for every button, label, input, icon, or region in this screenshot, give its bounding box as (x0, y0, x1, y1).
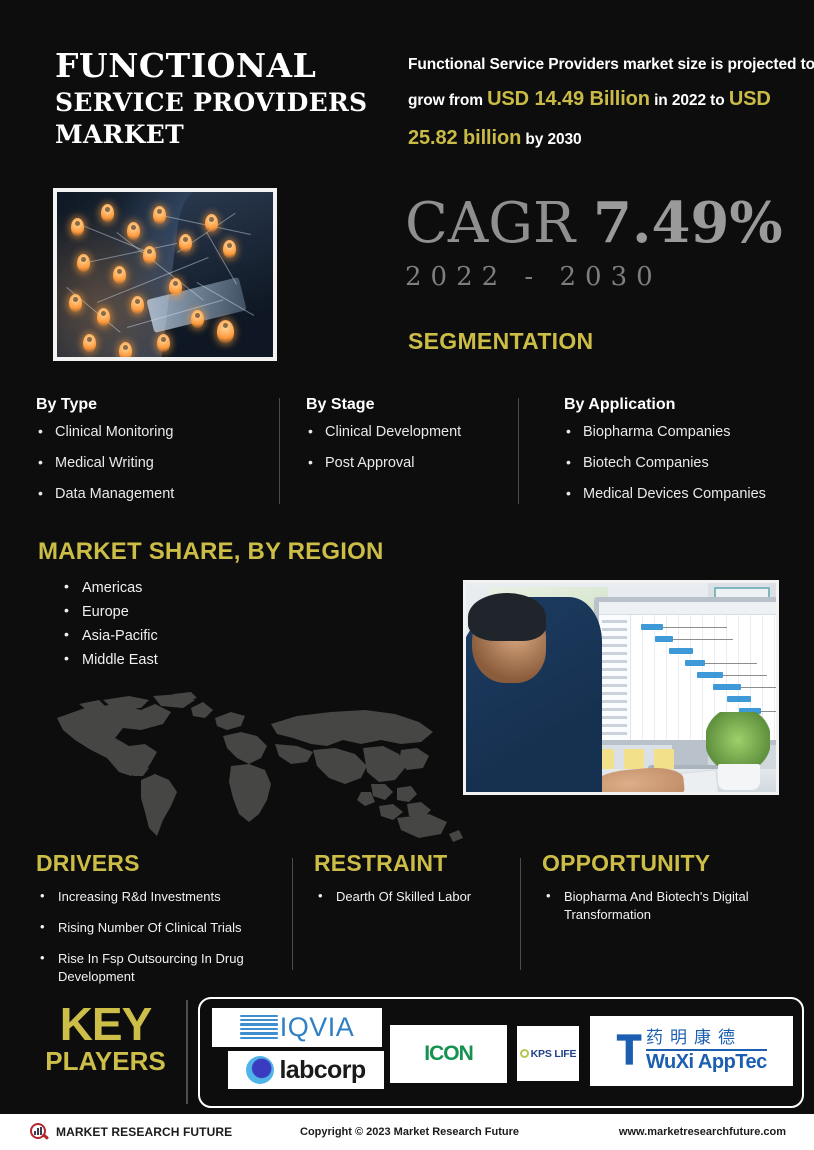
market-research-future-logo-icon (30, 1123, 49, 1142)
list-item: Biopharma Companies (564, 425, 814, 441)
segmentation-heading: SEGMENTATION (408, 328, 593, 355)
footer-brand-name: MARKET RESEARCH FUTURE (56, 1125, 232, 1139)
key-players-separator (186, 1000, 188, 1104)
segmentation-column-by-application: By Application Biopharma Companies Biote… (564, 396, 814, 518)
list-item: Asia-Pacific (60, 629, 158, 645)
title-line-3: MARKET (55, 119, 385, 152)
key-players-logo-box: IQVIA labcorp ICON KPS LIFE 𝐓 药明康德 WuXi … (198, 997, 804, 1108)
opportunity-heading: OPPORTUNITY (542, 850, 812, 877)
cagr-value: 7.49% (593, 190, 783, 256)
market-projection-text: Functional Service Providers market size… (408, 50, 814, 158)
restraint-heading: RESTRAINT (314, 850, 524, 877)
segmentation-heading-by-type: By Type (36, 396, 236, 414)
list-item: Clinical Monitoring (36, 425, 236, 441)
segmentation-column-by-stage: By Stage Clinical Development Post Appro… (306, 396, 536, 487)
key-players-label: KEY PLAYERS (33, 1002, 178, 1076)
list-item: Americas (60, 581, 158, 597)
logo-wuxi-apptec: 𝐓 药明康德 WuXi AppTec (590, 1016, 793, 1086)
logo-labcorp: labcorp (228, 1051, 384, 1089)
list-item: Medical Writing (36, 456, 236, 472)
segmentation-heading-by-application: By Application (564, 396, 814, 414)
page-title: FUNCTIONAL SERVICE PROVIDERS MARKET (55, 48, 385, 152)
list-item: Post Approval (306, 456, 536, 472)
key-players-line-2: PLAYERS (33, 1047, 178, 1076)
cagr-block: CAGR 7.49% 2022 - 2030 (405, 195, 783, 292)
list-item: Rise In Fsp Outsourcing In Drug Developm… (36, 950, 276, 986)
network-people-photo (53, 188, 277, 361)
cagr-line: CAGR 7.49% (405, 195, 783, 252)
iqvia-wordmark: IQVIA (280, 1012, 355, 1043)
cagr-label: CAGR (405, 191, 593, 256)
wuxi-p-mark-icon: 𝐓 (616, 1031, 642, 1071)
list-item: Rising Number Of Clinical Trials (36, 919, 276, 937)
footer-url[interactable]: www.marketresearchfuture.com (619, 1126, 786, 1138)
projection-part-3: by 2030 (521, 131, 581, 148)
dynamics-column-restraint: RESTRAINT Dearth Of Skilled Labor (314, 850, 524, 919)
list-item: Middle East (60, 653, 158, 669)
logo-icon-plc: ICON (390, 1025, 507, 1083)
footer-copyright: Copyright © 2023 Market Research Future (300, 1126, 519, 1138)
iqvia-bars-icon (240, 1015, 278, 1041)
world-map (45, 688, 475, 848)
list-item: Europe (60, 605, 158, 621)
footer-brand: MARKET RESEARCH FUTURE (30, 1123, 232, 1142)
logo-iqvia: IQVIA (212, 1008, 382, 1047)
list-item: Medical Devices Companies (564, 487, 814, 503)
kps-flower-icon (520, 1049, 529, 1058)
list-item: Increasing R&d Investments (36, 888, 276, 906)
footer-bar: MARKET RESEARCH FUTURE Copyright © 2023 … (0, 1114, 814, 1150)
labcorp-wordmark: labcorp (279, 1056, 365, 1085)
dynamics-divider-1 (292, 858, 293, 970)
dynamics-column-drivers: DRIVERS Increasing R&d Investments Risin… (36, 850, 276, 999)
segmentation-divider-1 (279, 398, 280, 504)
dynamics-column-opportunity: OPPORTUNITY Biopharma And Biotech's Digi… (542, 850, 812, 937)
segmentation-column-by-type: By Type Clinical Monitoring Medical Writ… (36, 396, 236, 518)
analyst-at-computer-photo (463, 580, 779, 795)
segmentation-heading-by-stage: By Stage (306, 396, 536, 414)
title-line-1: FUNCTIONAL (55, 48, 385, 85)
list-item: Biotech Companies (564, 456, 814, 472)
key-players-section: KEY PLAYERS IQVIA labcorp ICON KPS (0, 996, 814, 1114)
market-share-heading: MARKET SHARE, BY REGION (38, 538, 384, 566)
list-item: Clinical Development (306, 425, 536, 441)
wuxi-chinese-name: 药明康德 (646, 1029, 742, 1048)
segmentation-columns: By Type Clinical Monitoring Medical Writ… (36, 396, 796, 511)
market-dynamics-columns: DRIVERS Increasing R&d Investments Risin… (36, 850, 806, 980)
wuxi-wordmark: WuXi AppTec (646, 1052, 767, 1073)
list-item: Dearth Of Skilled Labor (314, 888, 524, 906)
icon-wordmark: ICON (424, 1042, 473, 1066)
list-item: Biopharma And Biotech's Digital Transfor… (542, 888, 812, 924)
market-share-region-list: Americas Europe Asia-Pacific Middle East (60, 581, 158, 677)
infographic-poster: FUNCTIONAL SERVICE PROVIDERS MARKET Func… (0, 0, 814, 1150)
projection-value-2022: USD 14.49 Billion (487, 88, 650, 110)
title-line-2: SERVICE PROVIDERS (55, 87, 385, 120)
logo-kps-life: KPS LIFE (517, 1026, 579, 1081)
drivers-heading: DRIVERS (36, 850, 276, 877)
key-players-line-1: KEY (33, 1002, 178, 1047)
kps-wordmark: KPS LIFE (531, 1048, 577, 1060)
list-item: Data Management (36, 487, 236, 503)
projection-part-2: in 2022 to (650, 92, 729, 109)
labcorp-circle-icon (246, 1056, 274, 1084)
cagr-year-range: 2022 - 2030 (405, 262, 783, 292)
